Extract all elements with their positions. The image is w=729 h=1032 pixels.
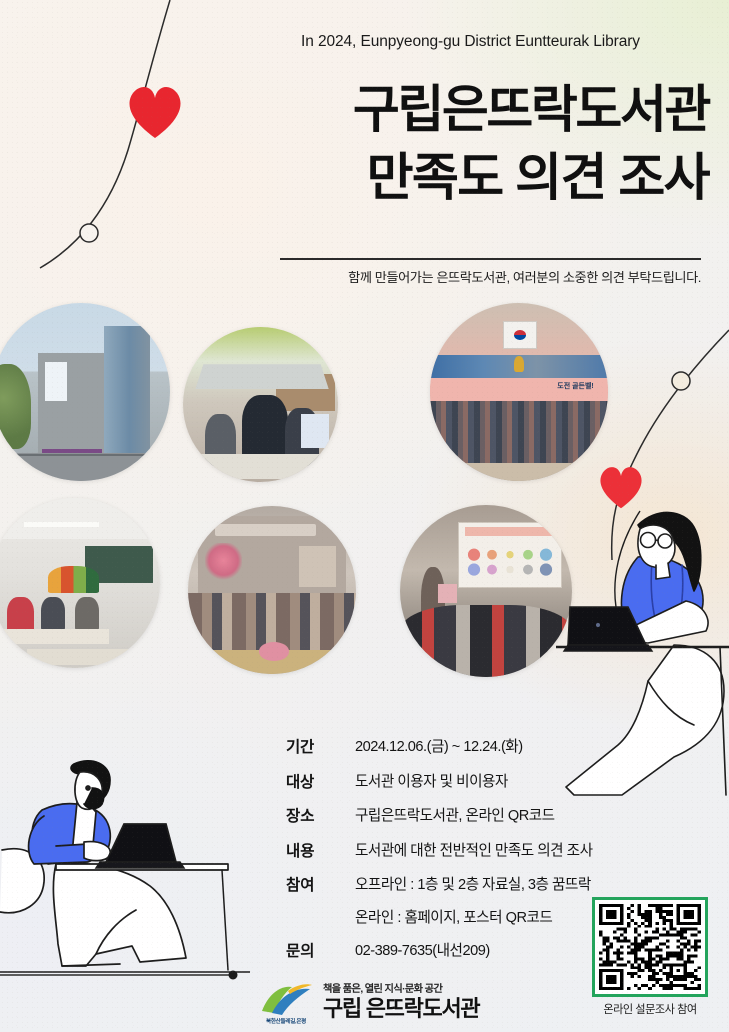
info-label-target: 대상: [286, 770, 348, 792]
info-value-participation-online: 온라인 : 홈페이지, 포스터 QR코드: [348, 906, 552, 927]
info-label-place: 장소: [286, 804, 348, 826]
info-value-place: 구립은뜨락도서관, 온라인 QR코드: [348, 804, 555, 825]
photo-group-presentation: [188, 506, 356, 674]
qr-code-box[interactable]: [592, 897, 708, 997]
english-header-line: In 2024, Eunpyeong-gu District Euntteura…: [230, 33, 711, 51]
info-row-place: 장소 구립은뜨락도서관, 온라인 QR코드: [286, 804, 686, 826]
info-value-inquiry: 02-389-7635(내선209): [348, 939, 490, 960]
info-row-participation: 참여 오프라인 : 1층 및 2층 자료실, 3층 꿈뜨락: [286, 873, 686, 895]
poster-root: In 2024, Eunpyeong-gu District Euntteura…: [0, 0, 729, 1032]
photo-lecture-projector: [400, 505, 572, 677]
illustration-man-at-desk: [0, 758, 250, 995]
qr-caption: 온라인 설문조사 참여: [592, 1001, 708, 1017]
subtitle-divider: [280, 258, 701, 260]
photo-library-exterior: [0, 303, 170, 481]
info-value-participation-offline: 오프라인 : 1층 및 2층 자료실, 3층 꿈뜨락: [348, 873, 591, 894]
footer-logo-text: 책을 품은, 열린 지식·문화 공간 구립 은뜨락도서관: [323, 984, 479, 1021]
footer-logo: 북한산둘레길,은평 책을 품은, 열린 지식·문화 공간 구립 은뜨락도서관: [258, 981, 479, 1025]
footer-tagline: 책을 품은, 열린 지식·문화 공간: [323, 984, 479, 995]
title-line-2: 만족도 의견 조사: [150, 144, 709, 212]
subtitle-text: 함께 만들어가는 은뜨락도서관, 여러분의 소중한 의견 부탁드립니다.: [280, 267, 701, 286]
info-row-target: 대상 도서관 이용자 및 비이용자: [286, 770, 686, 792]
info-label-period: 기간: [286, 735, 348, 757]
eunpyeong-emblem-icon: 북한산둘레길,은평: [258, 981, 314, 1025]
subtitle-block: 함께 만들어가는 은뜨락도서관, 여러분의 소중한 의견 부탁드립니다.: [280, 258, 701, 286]
golden-bell-banner-text: 도전 골든벨!: [557, 381, 593, 391]
title-line-1: 구립은뜨락도서관: [150, 76, 709, 144]
emblem-text: 북한산둘레길,은평: [258, 1017, 314, 1025]
photo-golden-bell-event: 도전 골든벨!: [430, 303, 608, 481]
qr-section[interactable]: 온라인 설문조사 참여: [592, 897, 708, 1017]
qr-code-image[interactable]: [599, 904, 701, 990]
info-value-content: 도서관에 대한 전반적인 만족도 의견 조사: [348, 839, 593, 860]
page-title: 구립은뜨락도서관 만족도 의견 조사: [150, 76, 709, 212]
info-label-inquiry: 문의: [286, 939, 348, 961]
info-value-period: 2024.12.06.(금) ~ 12.24.(화): [348, 735, 523, 756]
footer-library-name: 구립 은뜨락도서관: [323, 997, 479, 1022]
info-label-content: 내용: [286, 839, 348, 861]
info-row-content: 내용 도서관에 대한 전반적인 만족도 의견 조사: [286, 839, 686, 861]
info-value-target: 도서관 이용자 및 비이용자: [348, 770, 508, 791]
photo-outdoor-booth-event: [183, 327, 338, 482]
info-label-participation: 참여: [286, 873, 348, 895]
photo-classroom-program: [0, 498, 160, 668]
info-row-period: 기간 2024.12.06.(금) ~ 12.24.(화): [286, 735, 686, 757]
